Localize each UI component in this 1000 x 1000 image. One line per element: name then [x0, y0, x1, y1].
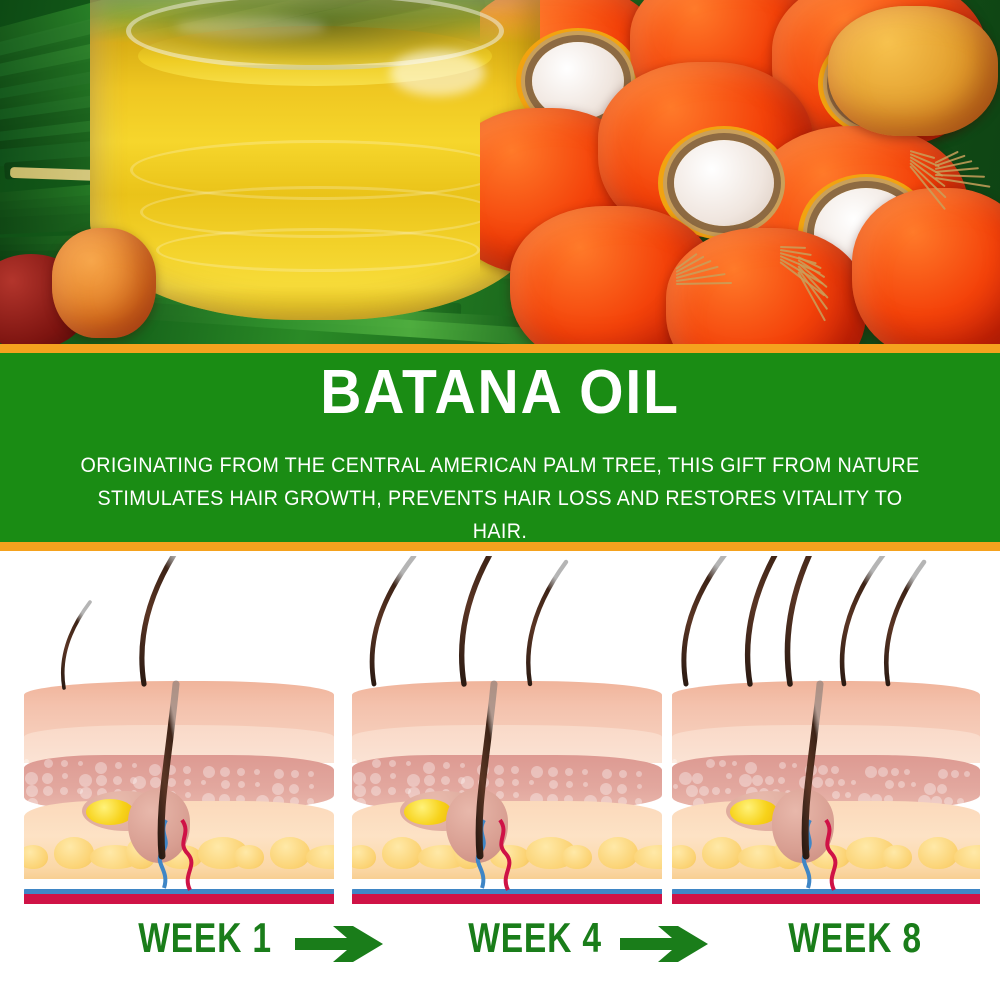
week-1-label: WEEK 1 [113, 914, 297, 962]
week-8-diagram [672, 556, 980, 906]
subtitle-line-1: ORIGINATING FROM THE CENTRAL AMERICAN PA… [68, 449, 933, 482]
week-4-label: WEEK 4 [443, 914, 627, 962]
hair-strands [352, 556, 662, 906]
orange-stripe-bottom [0, 542, 1000, 551]
palm-fruit-cluster [480, 0, 1000, 344]
palm-kernel [674, 140, 774, 226]
week-4-diagram [352, 556, 662, 906]
week-8-label: WEEK 8 [763, 914, 947, 962]
week-1-diagram [24, 556, 334, 906]
page-title: BATANA OIL [40, 361, 960, 425]
arrow-right-icon [295, 924, 387, 964]
timeline-labels: WEEK 1 WEEK 4 WEEK 8 [0, 906, 1000, 982]
timeline-diagrams [0, 556, 1000, 906]
product-infographic: BATANA OIL ORIGINATING FROM THE CENTRAL … [0, 0, 1000, 1000]
glass-highlight [176, 16, 326, 38]
palm-fruit [828, 6, 998, 136]
hair-strands [24, 556, 334, 906]
subtitle-line-2: STIMULATES HAIR GROWTH, PREVENTS HAIR LO… [68, 482, 933, 548]
hair-strands [672, 556, 980, 906]
arrow-right-icon [620, 924, 712, 964]
oil-ring [156, 228, 480, 272]
palm-fruit [852, 188, 1000, 344]
oil-bowl [90, 0, 540, 335]
palm-fruit [666, 228, 866, 344]
orange-stripe-top [0, 344, 1000, 353]
orange-palm-fruit [52, 228, 156, 338]
banner-subtitle: ORIGINATING FROM THE CENTRAL AMERICAN PA… [68, 449, 933, 548]
hero-photo [0, 0, 1000, 344]
glass-highlight [390, 50, 485, 96]
title-banner: BATANA OIL ORIGINATING FROM THE CENTRAL … [0, 353, 1000, 542]
